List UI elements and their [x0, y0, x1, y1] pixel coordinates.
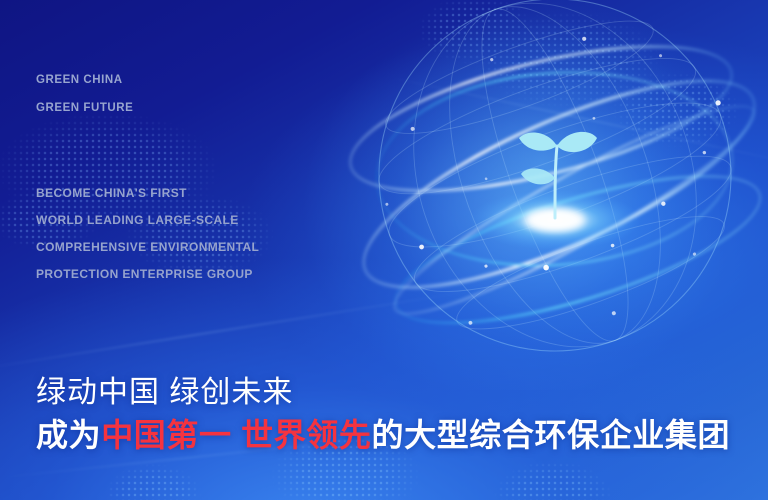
- statement-line-4: PROTECTION ENTERPRISE GROUP: [36, 267, 253, 281]
- headline-secondary-prefix: 成为: [36, 417, 101, 453]
- hero-banner: GREEN CHINA GREEN FUTURE BECOME CHINA'S …: [0, 0, 768, 500]
- globe-graphic: [330, 0, 768, 390]
- headline-secondary: 成为中国第一 世界领先的大型综合环保企业集团: [36, 410, 730, 456]
- headline-secondary-suffix: 的大型综合环保企业集团: [372, 417, 731, 453]
- headline-primary: 绿动中国 绿创未来: [36, 367, 293, 411]
- statement-line-3: COMPREHENSIVE ENVIRONMENTAL: [36, 240, 259, 254]
- globe-svg: [330, 0, 768, 390]
- eyebrow-line-1: GREEN CHINA: [36, 74, 123, 86]
- headline-secondary-highlight: 中国第一 世界领先: [101, 417, 371, 453]
- statement-line-2: WORLD LEADING LARGE-SCALE: [36, 213, 239, 227]
- eyebrow-line-2: GREEN FUTURE: [36, 102, 133, 114]
- statement-line-1: BECOME CHINA'S FIRST: [36, 186, 187, 200]
